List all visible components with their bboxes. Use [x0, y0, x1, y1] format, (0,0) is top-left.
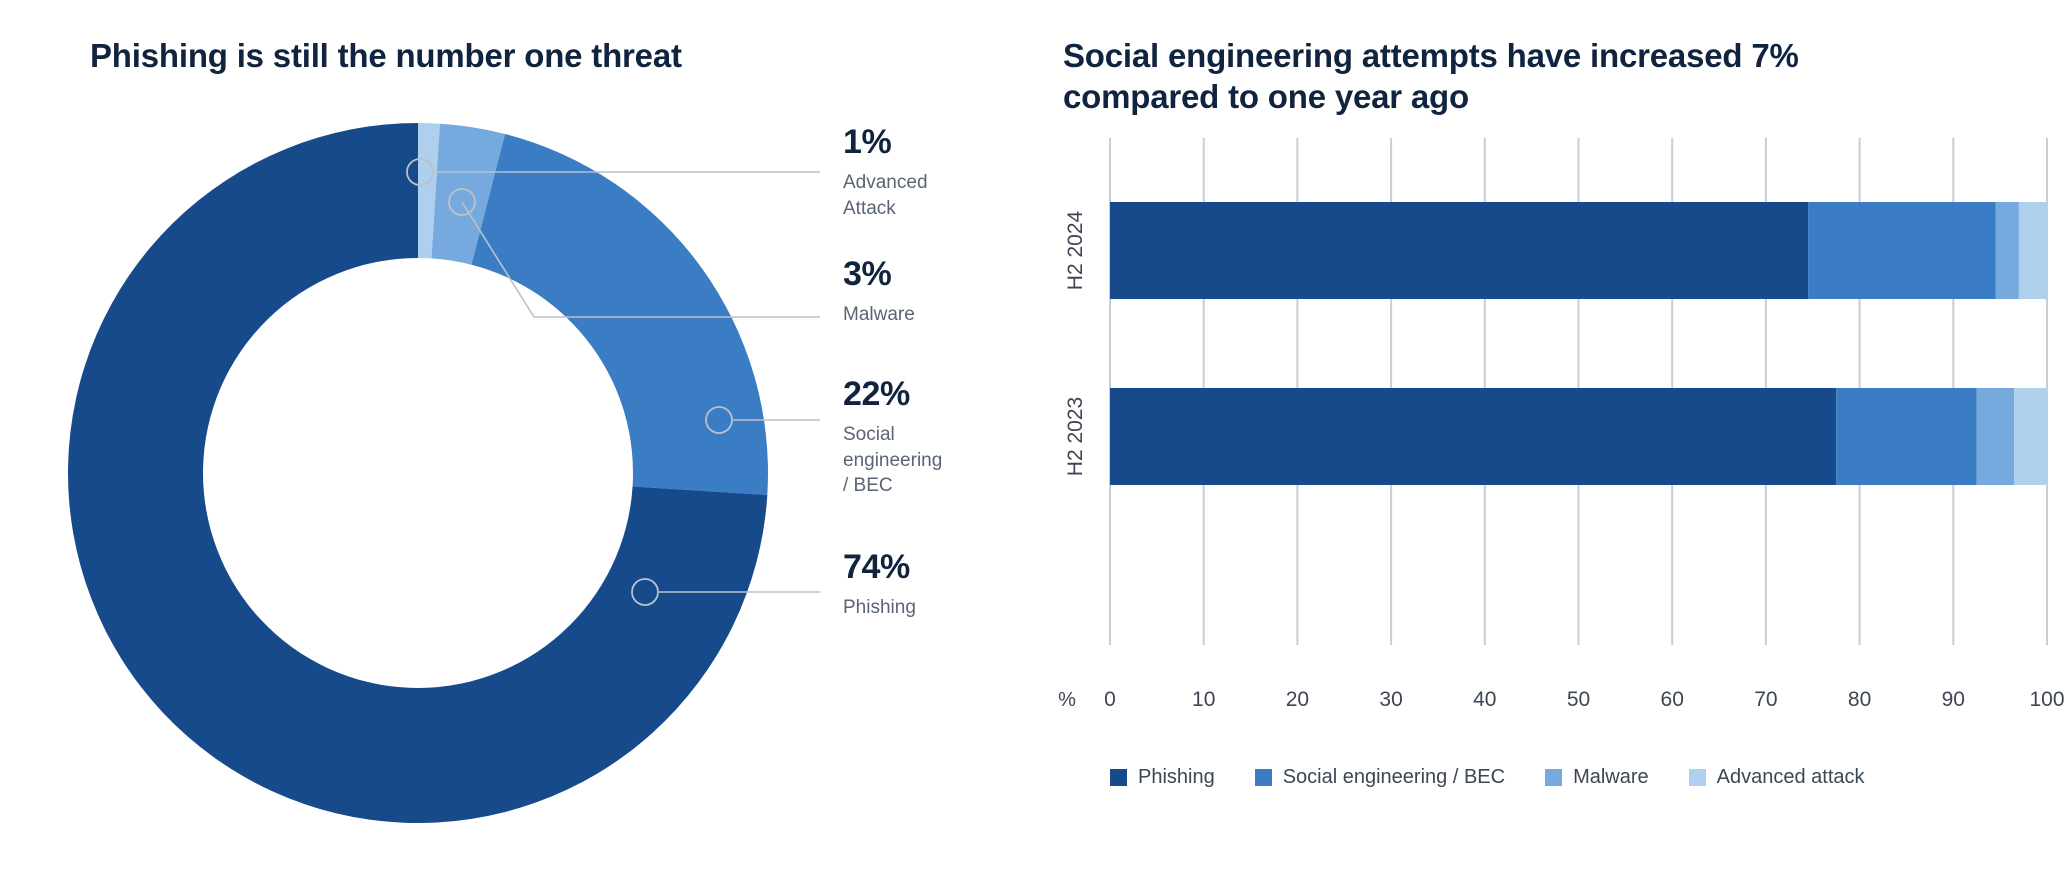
callout-value: 74% — [843, 549, 1053, 586]
legend-label: Phishing — [1138, 766, 1215, 789]
bar-segment — [1836, 388, 1977, 485]
y-axis-category-label: H2 2024 — [1064, 210, 1087, 290]
x-tick-label: 60 — [1661, 688, 1684, 711]
callout-label: Phishing — [843, 595, 1053, 620]
donut-slice-social-engineering-bec — [471, 134, 768, 495]
stacked-bar-chart: 0102030405060708090100 H2 2024H2 2023 % — [1040, 0, 2069, 876]
y-axis-category-label: H2 2023 — [1064, 397, 1087, 476]
x-tick-label: 0 — [1104, 688, 1116, 711]
legend-label: Social engineering / BEC — [1283, 766, 1505, 789]
donut-panel: Phishing is still the number one threat … — [0, 0, 1040, 876]
legend-item[interactable]: Malware — [1545, 766, 1649, 789]
legend-swatch-icon — [1110, 769, 1127, 786]
chart-legend: PhishingSocial engineering / BECMalwareA… — [1110, 766, 1865, 789]
legend-item[interactable]: Phishing — [1110, 766, 1215, 789]
callout-label: Malware — [843, 302, 1053, 327]
bar-chart-panel: Social engineering attempts have increas… — [1040, 0, 2069, 876]
legend-swatch-icon — [1689, 769, 1706, 786]
donut-slice-group — [68, 123, 768, 823]
callout-value: 1% — [843, 124, 1053, 161]
donut-callout-malware: 3% Malware — [843, 256, 1053, 328]
bar-segment — [1110, 388, 1836, 485]
bar-segment — [2019, 202, 2047, 299]
x-tick-label: 50 — [1567, 688, 1590, 711]
donut-callout-social-engineering: 22% Social engineering / BEC — [843, 376, 1053, 498]
callout-value: 22% — [843, 376, 1053, 413]
bar-segment — [1995, 202, 2018, 299]
callout-value: 3% — [843, 256, 1053, 293]
callout-label: Social engineering / BEC — [843, 422, 1053, 498]
x-tick-label: 90 — [1942, 688, 1965, 711]
callout-label: Advanced Attack — [843, 170, 1053, 221]
legend-swatch-icon — [1545, 769, 1562, 786]
bar-segment — [1808, 202, 1995, 299]
donut-callout-advanced-attack: 1% Advanced Attack — [843, 124, 1053, 221]
x-tick-label: 20 — [1286, 688, 1309, 711]
legend-item[interactable]: Social engineering / BEC — [1255, 766, 1505, 789]
bar-segment — [2014, 388, 2047, 485]
x-tick-label: 80 — [1848, 688, 1871, 711]
legend-label: Advanced attack — [1717, 766, 1865, 789]
legend-label: Malware — [1573, 766, 1649, 789]
x-tick-label: 30 — [1379, 688, 1402, 711]
x-axis-unit-label-group: % — [1058, 689, 1076, 711]
bar-segment — [1110, 202, 1808, 299]
y-axis-category-label-group: H2 2024H2 2023 — [1064, 210, 1087, 476]
x-axis-tick-label-group: 0102030405060708090100 — [1104, 688, 2064, 711]
x-tick-label: 70 — [1754, 688, 1777, 711]
x-axis-unit-label: % — [1058, 689, 1076, 711]
legend-item[interactable]: Advanced attack — [1689, 766, 1865, 789]
legend-swatch-icon — [1255, 769, 1272, 786]
x-tick-label: 10 — [1192, 688, 1215, 711]
bar-segment — [1977, 388, 2014, 485]
x-tick-label: 100 — [2029, 688, 2064, 711]
donut-callout-phishing: 74% Phishing — [843, 549, 1053, 621]
x-tick-label: 40 — [1473, 688, 1496, 711]
